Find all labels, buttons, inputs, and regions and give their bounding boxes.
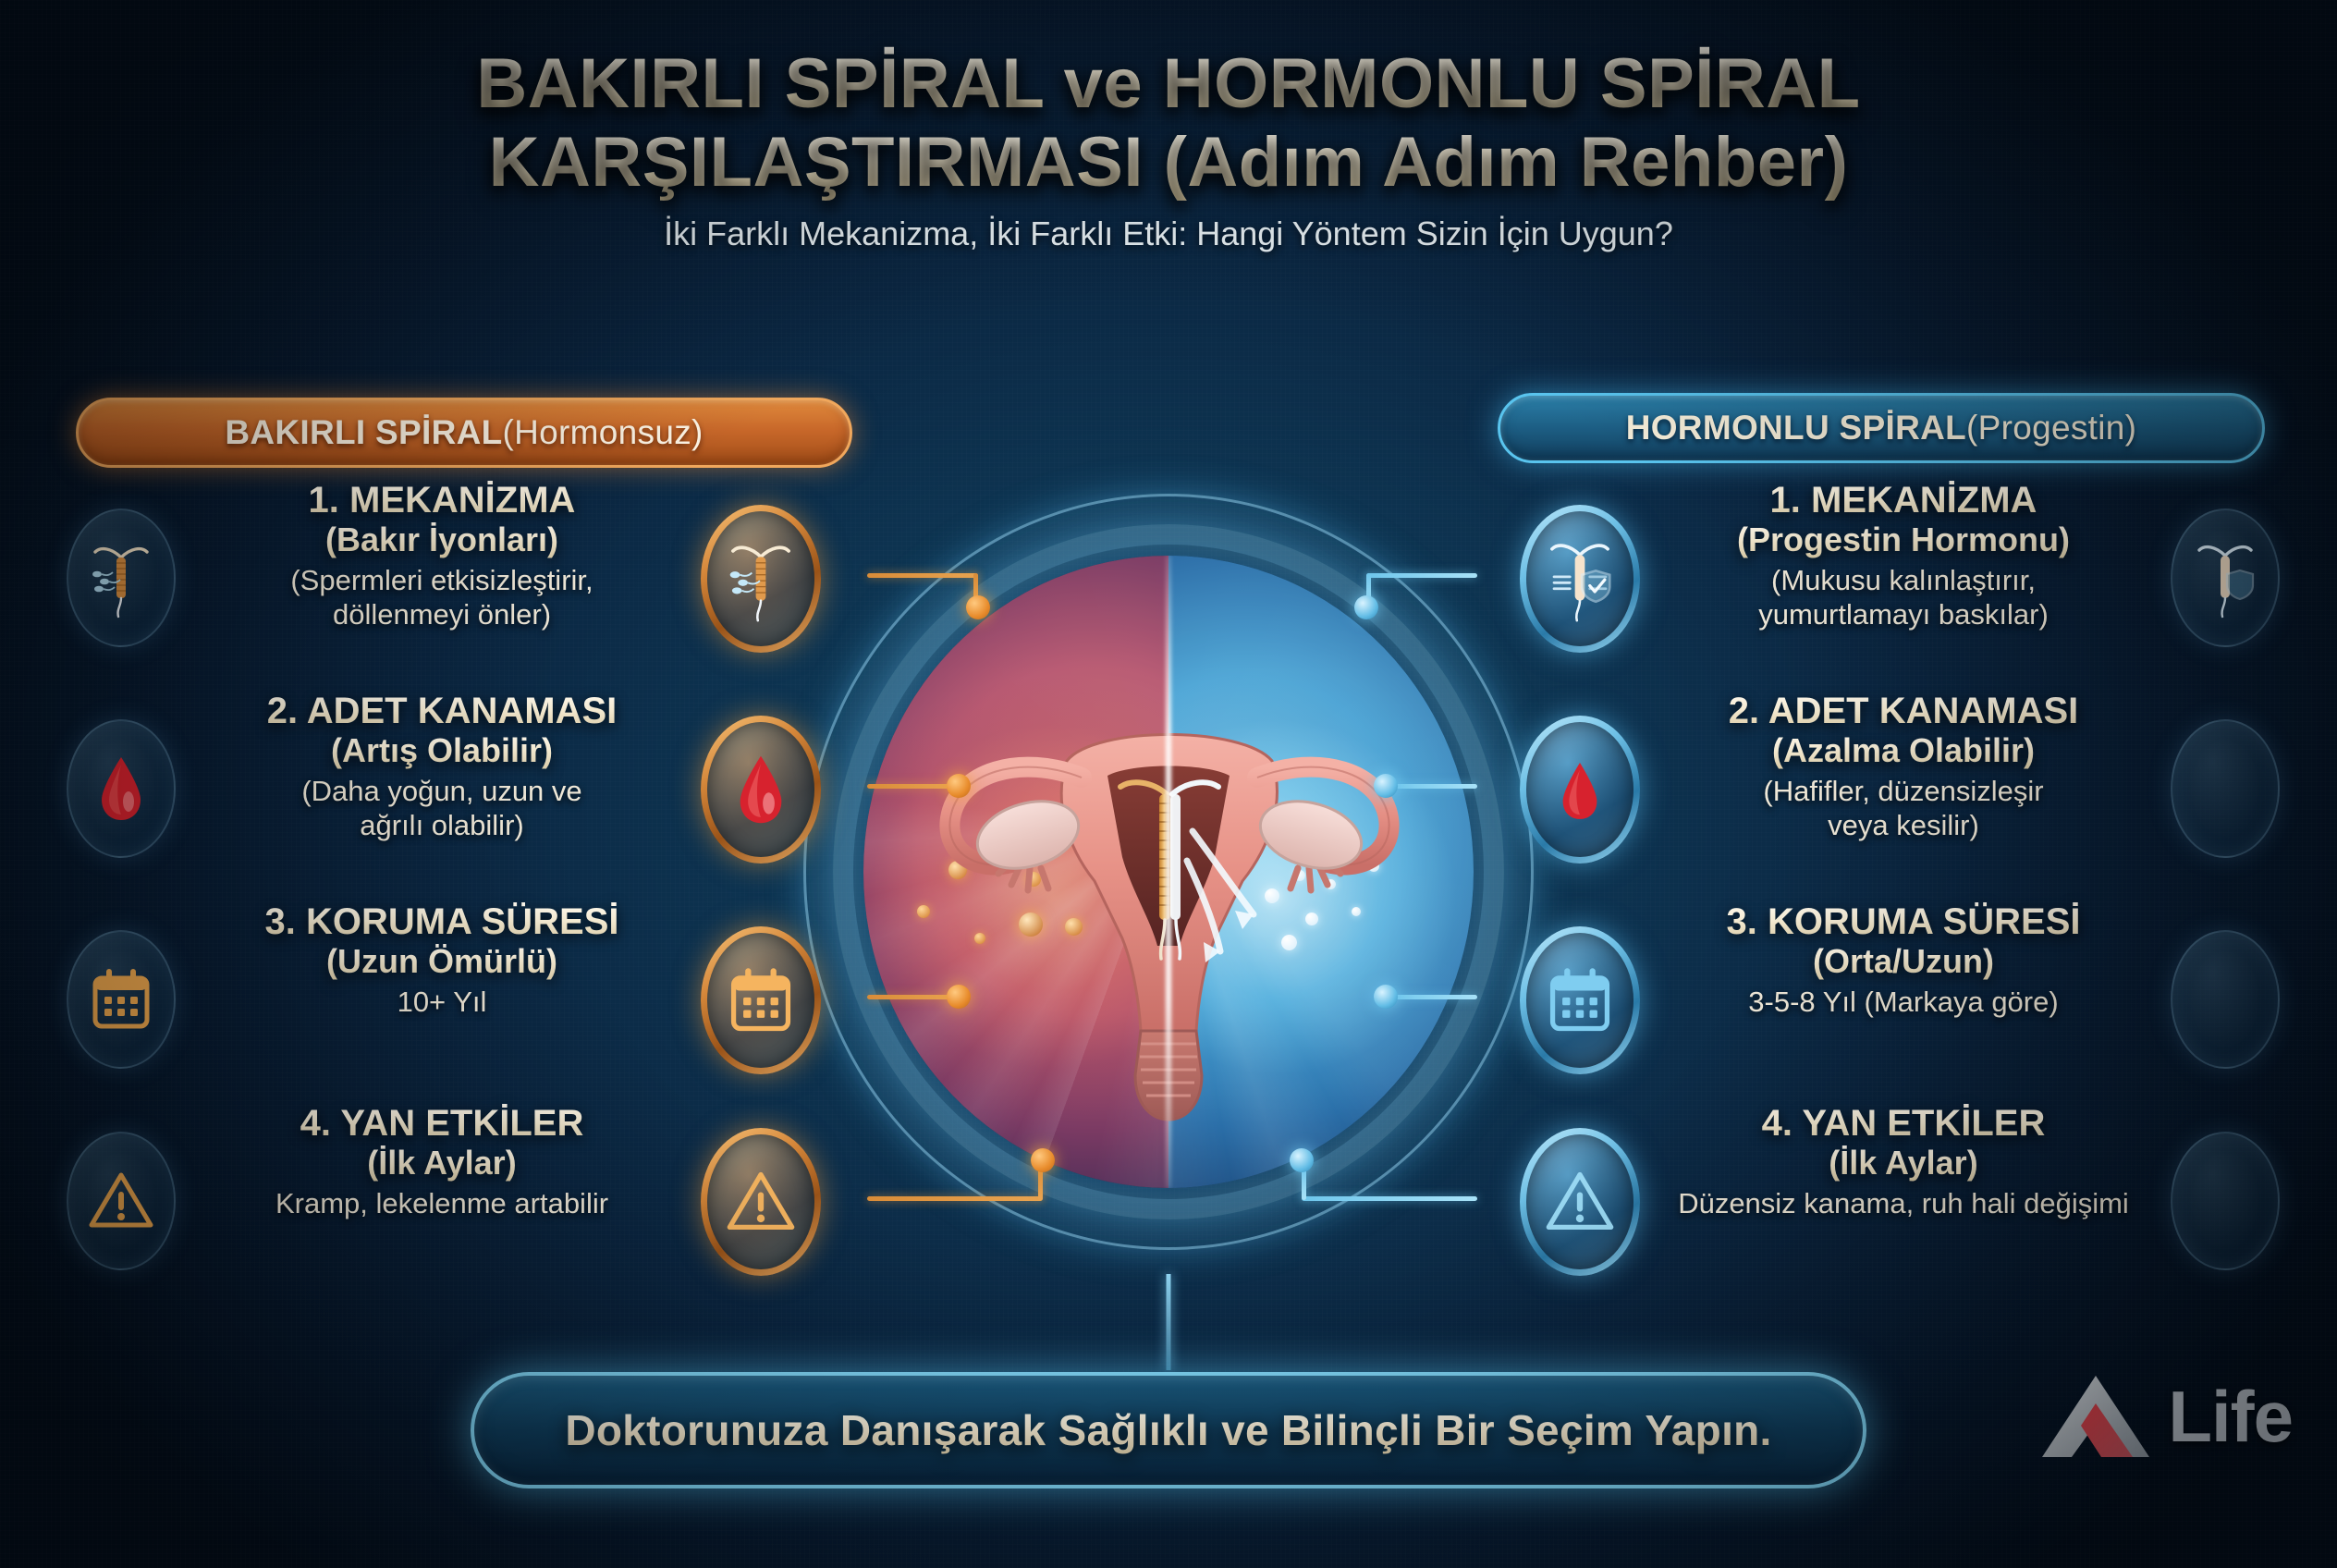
hormonal-iud-shield-icon bbox=[2171, 508, 2280, 647]
list-item[interactable]: 4. YAN ETKİLER (İlk Aylar) Düzensiz kana… bbox=[1475, 1104, 2289, 1305]
list-item[interactable]: 1. MEKANİZMA (Progestin Hormonu) (Mukusu… bbox=[1475, 481, 2289, 692]
list-item[interactable]: 4. YAN ETKİLER (İlk Aylar) Kramp, lekele… bbox=[55, 1104, 869, 1305]
item-subtitle: (Orta/Uzun) bbox=[1657, 943, 2150, 980]
connector-node bbox=[1290, 1148, 1314, 1172]
right-column-list: 1. MEKANİZMA (Progestin Hormonu) (Mukusu… bbox=[1475, 481, 2289, 1305]
left-badge-main-label: BAKIRLI SPİRAL bbox=[225, 413, 502, 452]
item-title: 1. MEKANİZMA bbox=[196, 481, 688, 521]
item-title: 2. ADET KANAMASI bbox=[196, 692, 688, 731]
item-subtitle: (Uzun Ömürlü) bbox=[196, 943, 688, 980]
page-title-line-2: KARŞILAŞTIRMASI (Adım Adım Rehber) bbox=[0, 123, 2337, 202]
page-subtitle: İki Farklı Mekanizma, İki Farklı Etki: H… bbox=[0, 214, 2337, 253]
brand-logo[interactable]: Life bbox=[2040, 1372, 2293, 1461]
warning-triangle-icon[interactable] bbox=[701, 1128, 821, 1276]
connector-line bbox=[867, 784, 958, 789]
connector-node bbox=[1031, 1148, 1055, 1172]
right-column-badge[interactable]: HORMONLU SPİRAL (Progestin) bbox=[1498, 393, 2265, 463]
item-description: Düzensiz kanama, ruh hali değişimi bbox=[1657, 1186, 2150, 1220]
item-title: 4. YAN ETKİLER bbox=[196, 1104, 688, 1144]
connector-line bbox=[1387, 995, 1477, 999]
blood-drop-icon bbox=[2171, 719, 2280, 858]
list-item[interactable]: 3. KORUMA SÜRESİ (Uzun Ömürlü) 10+ Yıl bbox=[55, 902, 869, 1104]
left-column-list: 1. MEKANİZMA (Bakır İyonları) (Spermleri… bbox=[55, 481, 869, 1305]
blood-drop-icon[interactable] bbox=[701, 716, 821, 864]
connector-node bbox=[947, 985, 971, 1009]
item-subtitle: (Artış Olabilir) bbox=[196, 732, 688, 769]
item-title: 2. ADET KANAMASI bbox=[1657, 692, 2150, 731]
right-badge-sub-label: (Progestin) bbox=[1966, 409, 2136, 447]
left-column-badge[interactable]: BAKIRLI SPİRAL (Hormonsuz) bbox=[76, 398, 852, 468]
item-title: 4. YAN ETKİLER bbox=[1657, 1104, 2150, 1144]
connector-node bbox=[947, 774, 971, 798]
calendar-icon[interactable] bbox=[701, 926, 821, 1074]
item-description: (Hafifler, düzensizleşirveya kesilir) bbox=[1657, 774, 2150, 842]
a-mountain-mark bbox=[2040, 1372, 2155, 1461]
connector-node bbox=[966, 595, 990, 619]
item-title: 3. KORUMA SÜRESİ bbox=[196, 902, 688, 942]
item-description: (Spermleri etkisizleştirir,döllenmeyi ön… bbox=[196, 563, 688, 631]
left-badge-sub-label: (Hormonsuz) bbox=[503, 413, 704, 452]
warning-triangle-icon bbox=[2171, 1132, 2280, 1270]
item-description: (Daha yoğun, uzun veağrılı olabilir) bbox=[196, 774, 688, 842]
item-subtitle: (İlk Aylar) bbox=[196, 1145, 688, 1182]
item-description: 10+ Yıl bbox=[196, 985, 688, 1019]
calendar-icon bbox=[2171, 930, 2280, 1069]
header: BAKIRLI SPİRAL ve HORMONLU SPİRAL KARŞIL… bbox=[0, 44, 2337, 253]
connector-line bbox=[867, 995, 958, 999]
connector-line bbox=[867, 573, 978, 578]
list-item[interactable]: 1. MEKANİZMA (Bakır İyonları) (Spermleri… bbox=[55, 481, 869, 692]
connector-node bbox=[1374, 774, 1398, 798]
item-title: 1. MEKANİZMA bbox=[1657, 481, 2150, 521]
right-badge-main-label: HORMONLU SPİRAL bbox=[1626, 409, 1966, 447]
item-subtitle: (Progestin Hormonu) bbox=[1657, 521, 2150, 558]
center-divider bbox=[1166, 556, 1171, 1188]
footer-cta-text: Doktorunuza Danışarak Sağlıklı ve Bilinç… bbox=[565, 1405, 1771, 1455]
connector-node bbox=[1354, 595, 1378, 619]
central-illustration bbox=[785, 470, 1552, 1274]
item-subtitle: (Azalma Olabilir) bbox=[1657, 732, 2150, 769]
brand-logo-text: Life bbox=[2168, 1375, 2293, 1459]
item-subtitle: (Bakır İyonları) bbox=[196, 521, 688, 558]
item-title: 3. KORUMA SÜRESİ bbox=[1657, 902, 2150, 942]
page-title-line-1: BAKIRLI SPİRAL ve HORMONLU SPİRAL bbox=[0, 44, 2337, 123]
iud-sperm-icon[interactable] bbox=[701, 505, 821, 653]
item-description: (Mukusu kalınlaştırır,yumurtlamayı baskı… bbox=[1657, 563, 2150, 631]
connector-line bbox=[1302, 1196, 1477, 1201]
banner-connector-stem bbox=[1167, 1274, 1171, 1370]
split-comparison-disc bbox=[863, 556, 1474, 1188]
item-description: 3-5-8 Yıl (Markaya göre) bbox=[1657, 985, 2150, 1019]
list-item[interactable]: 3. KORUMA SÜRESİ (Orta/Uzun) 3-5-8 Yıl (… bbox=[1475, 902, 2289, 1104]
connector-line bbox=[867, 1196, 1043, 1201]
connector-line bbox=[1387, 784, 1477, 789]
connector-line bbox=[1366, 573, 1477, 578]
connector-node bbox=[1374, 985, 1398, 1009]
footer-cta-banner[interactable]: Doktorunuza Danışarak Sağlıklı ve Bilinç… bbox=[471, 1372, 1866, 1488]
item-description: Kramp, lekelenme artabilir bbox=[196, 1186, 688, 1220]
list-item[interactable]: 2. ADET KANAMASI (Azalma Olabilir) (Hafi… bbox=[1475, 692, 2289, 902]
item-subtitle: (İlk Aylar) bbox=[1657, 1145, 2150, 1182]
list-item[interactable]: 2. ADET KANAMASI (Artış Olabilir) (Daha … bbox=[55, 692, 869, 902]
